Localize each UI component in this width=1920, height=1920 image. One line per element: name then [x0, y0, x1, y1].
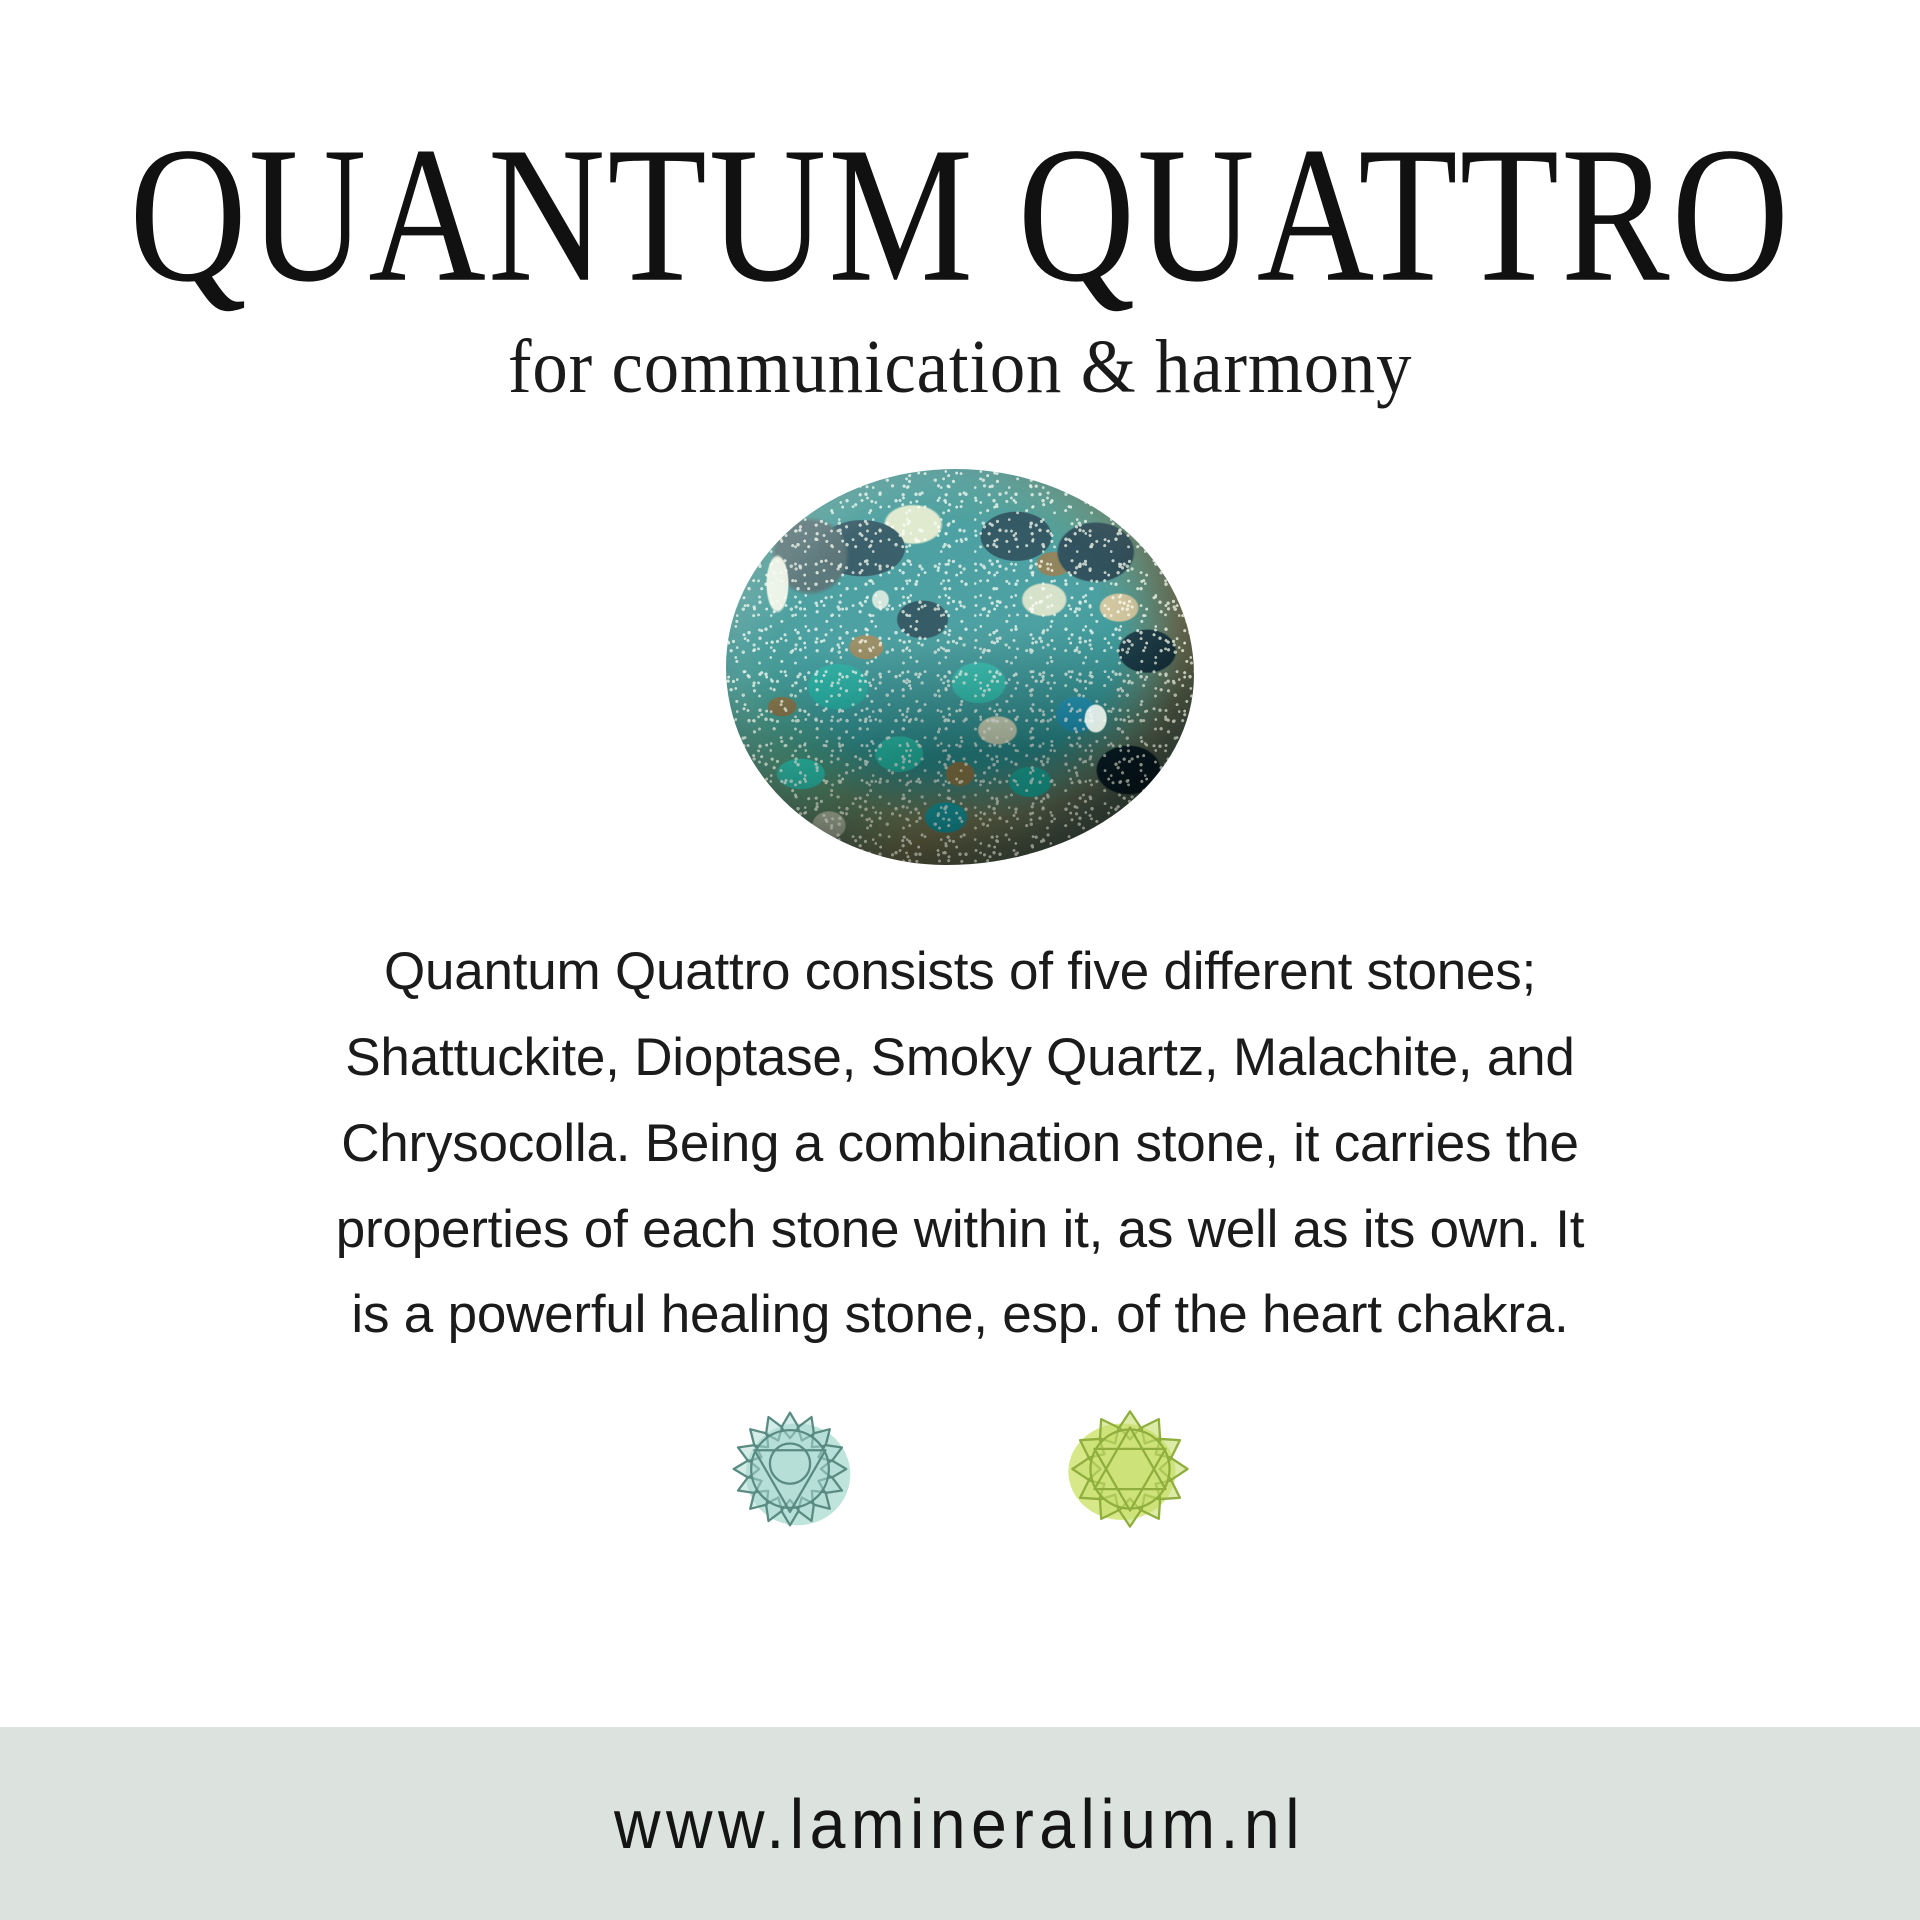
- stone-image-container: [710, 467, 1210, 867]
- chakra-symbols-row: [723, 1402, 1197, 1536]
- quantum-quattro-stone-image: [726, 469, 1194, 865]
- description-line-1: Quantum Quattro consists of five differe…: [140, 929, 1780, 1015]
- product-info-card: QUANTUM QUATTRO for communication & harm…: [0, 0, 1920, 1920]
- description-line-5: is a powerful healing stone, esp. of the…: [140, 1272, 1780, 1358]
- description-line-4: properties of each stone within it, as w…: [140, 1187, 1780, 1273]
- page-subtitle: for communication & harmony: [508, 329, 1412, 405]
- throat-chakra-icon: [723, 1402, 857, 1536]
- heart-chakra-icon: [1063, 1402, 1197, 1536]
- description-text: Quantum Quattro consists of five differe…: [140, 929, 1780, 1358]
- website-url[interactable]: www.lamineralium.nl: [615, 1784, 1306, 1864]
- description-line-3: Chrysocolla. Being a combination stone, …: [140, 1101, 1780, 1187]
- page-title: QUANTUM QUATTRO: [129, 118, 1791, 312]
- footer-band: www.lamineralium.nl: [0, 1727, 1920, 1920]
- description-line-2: Shattuckite, Dioptase, Smoky Quartz, Mal…: [140, 1015, 1780, 1101]
